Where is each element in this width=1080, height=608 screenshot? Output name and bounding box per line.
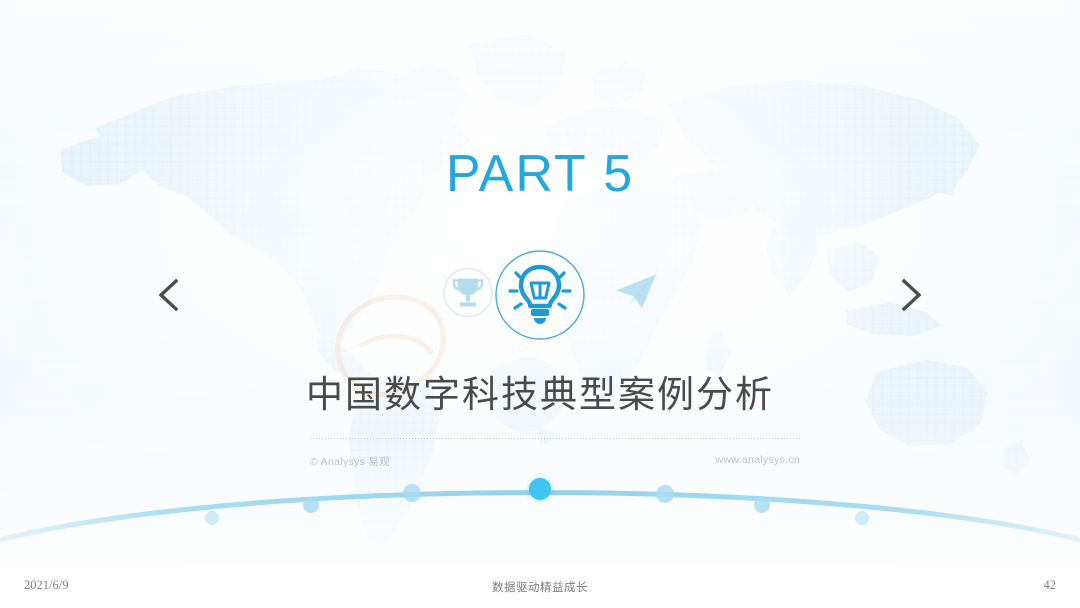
footer-tagline: 数据驱动精益成长 [0,579,1080,595]
trophy-icon [440,265,496,326]
progress-dot[interactable] [205,511,219,525]
progress-dot[interactable] [403,484,421,502]
slide-footer: 2021/6/9 数据驱动精益成长 42 [0,566,1080,608]
footer-page-number: 42 [1044,578,1057,593]
paper-plane-icon [608,265,664,326]
brand-website: www.analysys.cn [716,454,800,466]
presentation-slide: PART 5 [0,0,1080,608]
progress-dot[interactable] [754,497,770,513]
part-label: PART 5 [0,148,1080,200]
slide-stage: PART 5 [0,0,1080,566]
progress-dot[interactable] [855,511,869,525]
chevron-left-icon [154,276,184,314]
divider-line [310,438,800,439]
lightbulb-icon [490,245,590,345]
chevron-right-icon [896,276,926,314]
prev-slide-button[interactable] [146,272,192,318]
progress-dot[interactable] [656,485,674,503]
brand-copyright: © Analysys 易观 [310,454,390,469]
next-slide-button[interactable] [888,272,934,318]
progress-dot[interactable] [303,497,319,513]
progress-dot[interactable] [529,478,551,500]
slide-heading: 中国数字科技典型案例分析 [0,372,1080,418]
